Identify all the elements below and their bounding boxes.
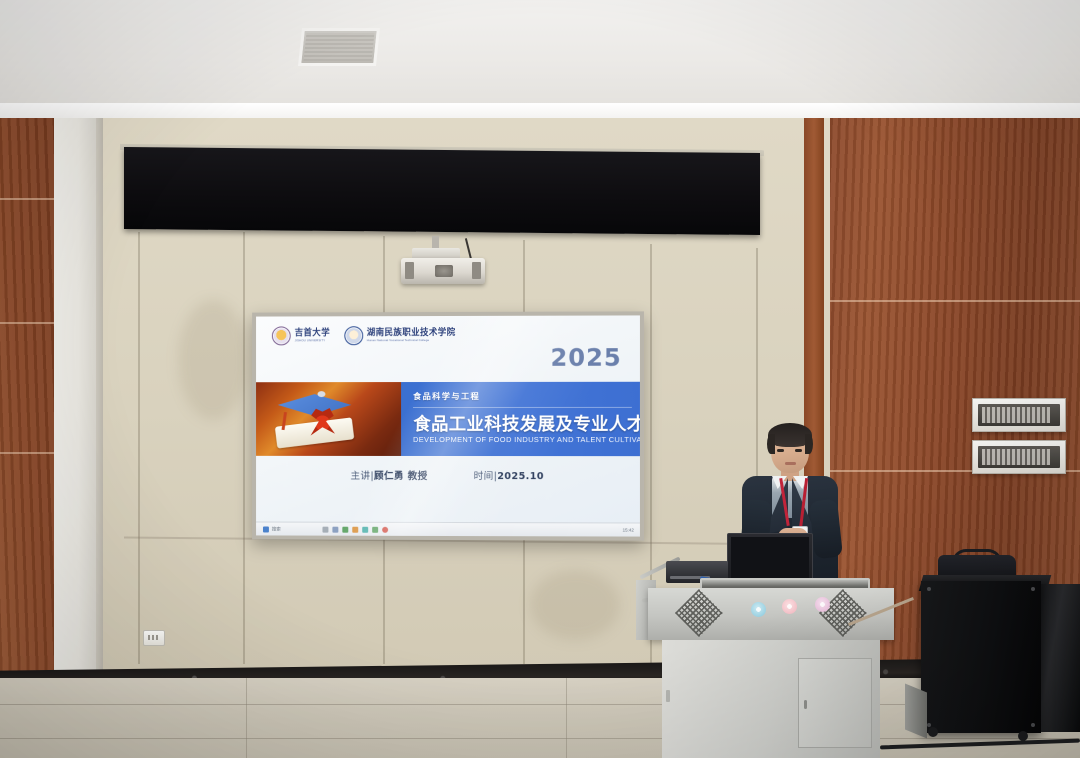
eyebrow-right bbox=[794, 444, 804, 446]
podium-door-handle[interactable] bbox=[804, 700, 807, 709]
taskbar-app-icons[interactable] bbox=[322, 526, 388, 532]
logo-name-en: Hunan National Vocational Technical Coll… bbox=[367, 339, 456, 342]
case-stud bbox=[1031, 587, 1035, 591]
wood-groove bbox=[0, 322, 62, 324]
slide-title-block: 食品科学与工程 食品工业科技发展及专业人才培养 DEVELOPMENT OF F… bbox=[407, 382, 640, 456]
floor-tile-line bbox=[0, 738, 1080, 739]
recording-icon[interactable] bbox=[382, 526, 388, 532]
college-seal-icon bbox=[344, 326, 363, 345]
slide-date-value: 2025.10 bbox=[497, 471, 544, 482]
breaker-switch-row bbox=[978, 446, 1060, 468]
wall-outlet-icon bbox=[143, 630, 165, 646]
equipment-case bbox=[921, 581, 1041, 733]
podium-top-panel bbox=[648, 588, 894, 640]
projection-screen-surface: 吉首大学 JISHOU UNIVERSITY 湖南民族职业技术学院 Hunan … bbox=[256, 315, 640, 536]
speaker-grille-icon bbox=[819, 589, 867, 637]
ceiling-projector-icon bbox=[401, 258, 485, 284]
wall-panel-seam bbox=[138, 232, 140, 664]
slide-speaker: 主讲|顾仁勇 教授 bbox=[351, 468, 428, 482]
slide-speaker-label: 主讲| bbox=[351, 471, 375, 482]
mouth bbox=[785, 462, 796, 465]
floor-rail bbox=[905, 684, 927, 739]
wood-groove bbox=[0, 198, 62, 200]
breaker-panel bbox=[972, 440, 1066, 474]
slide-meta-row: 主讲|顾仁勇 教授 时间|2025.10 bbox=[256, 468, 640, 483]
presentation-slide: 吉首大学 JISHOU UNIVERSITY 湖南民族职业技术学院 Hunan … bbox=[256, 315, 640, 536]
case-caster bbox=[928, 727, 938, 737]
pink-flower-sticker-icon bbox=[782, 599, 797, 614]
air-vent-icon bbox=[298, 28, 380, 66]
windows-taskbar[interactable]: 搜索 15:42 bbox=[256, 522, 640, 537]
jacket-sleeve-right bbox=[809, 499, 843, 560]
projection-screen: 吉首大学 JISHOU UNIVERSITY 湖南民族职业技术学院 Hunan … bbox=[252, 311, 644, 540]
wall-stain bbox=[178, 300, 248, 420]
slide-title-cn: 食品工业科技发展及专业人才培养 bbox=[413, 411, 640, 436]
taskbar-start-area[interactable]: 搜索 bbox=[263, 526, 281, 532]
logo-name-cn: 湖南民族职业技术学院 bbox=[367, 329, 456, 338]
slide-speaker-name: 顾仁勇 教授 bbox=[374, 471, 428, 482]
logo-hunan-vocational-college: 湖南民族职业技术学院 Hunan National Vocational Tec… bbox=[344, 326, 456, 345]
laptop[interactable] bbox=[727, 533, 813, 583]
hair-side-left bbox=[767, 434, 775, 454]
graduation-cap-photo bbox=[256, 382, 401, 456]
eye-right bbox=[795, 449, 802, 452]
wood-groove bbox=[830, 300, 1080, 302]
wood-groove bbox=[0, 452, 62, 454]
logo-name-cn: 吉首大学 bbox=[295, 329, 330, 338]
projector-lens bbox=[435, 265, 453, 277]
browser-icon[interactable] bbox=[352, 526, 358, 532]
logo-name-en: JISHOU UNIVERSITY bbox=[295, 339, 330, 342]
slide-kicker: 食品科学与工程 bbox=[413, 390, 480, 402]
podium-latch[interactable] bbox=[666, 690, 670, 702]
breaker-panel bbox=[972, 398, 1066, 432]
windows-icon[interactable] bbox=[263, 526, 269, 532]
wall-panel-seam bbox=[243, 232, 245, 664]
wood-panel-wall-left bbox=[0, 118, 62, 678]
wechat-icon[interactable] bbox=[342, 526, 348, 532]
wall-column bbox=[54, 118, 98, 678]
slide-divider bbox=[413, 407, 632, 408]
taskbar-search-text[interactable]: 搜索 bbox=[272, 526, 281, 532]
slide-date-label: 时间| bbox=[474, 471, 498, 482]
floor-tile-line bbox=[566, 678, 567, 758]
logo-jishou-university: 吉首大学 JISHOU UNIVERSITY bbox=[272, 326, 330, 345]
projection-screen-housing bbox=[124, 147, 760, 235]
wall-stain bbox=[530, 570, 620, 640]
breaker-switch-row bbox=[978, 404, 1060, 426]
wall-column-edge bbox=[96, 118, 103, 678]
graduation-cap-button-icon bbox=[317, 391, 325, 397]
ceiling bbox=[0, 0, 1080, 118]
slide-date: 时间|2025.10 bbox=[474, 468, 544, 482]
case-stud bbox=[927, 587, 931, 591]
folder-icon[interactable] bbox=[322, 526, 328, 532]
violet-flower-sticker-icon bbox=[815, 597, 830, 612]
blue-flower-sticker-icon bbox=[751, 602, 766, 617]
slide-title-en: DEVELOPMENT OF FOOD INDUSTRY AND TALENT … bbox=[413, 435, 640, 444]
podium-cabinet-door[interactable] bbox=[798, 658, 872, 748]
eye-left bbox=[777, 449, 784, 452]
diploma-icon bbox=[275, 417, 355, 448]
university-seal-icon bbox=[272, 326, 291, 345]
taskbar-clock[interactable]: 15:42 bbox=[623, 527, 634, 532]
floor-tile-line bbox=[246, 678, 247, 758]
case-stud bbox=[1031, 723, 1035, 727]
equipment-case-side bbox=[1036, 584, 1080, 732]
eyebrow-left bbox=[776, 444, 786, 446]
music-icon[interactable] bbox=[372, 526, 378, 532]
lecture-hall-photo: 吉首大学 JISHOU UNIVERSITY 湖南民族职业技术学院 Hunan … bbox=[0, 0, 1080, 758]
speaker-grille-icon bbox=[675, 589, 723, 637]
mail-icon[interactable] bbox=[332, 526, 338, 532]
slide-year: 2025 bbox=[550, 344, 621, 372]
projector-vent bbox=[472, 262, 481, 279]
projector-vent bbox=[405, 262, 414, 279]
slide-logo-row: 吉首大学 JISHOU UNIVERSITY 湖南民族职业技术学院 Hunan … bbox=[272, 326, 456, 345]
qq-icon[interactable] bbox=[362, 526, 368, 532]
hair-side-right bbox=[805, 434, 813, 454]
